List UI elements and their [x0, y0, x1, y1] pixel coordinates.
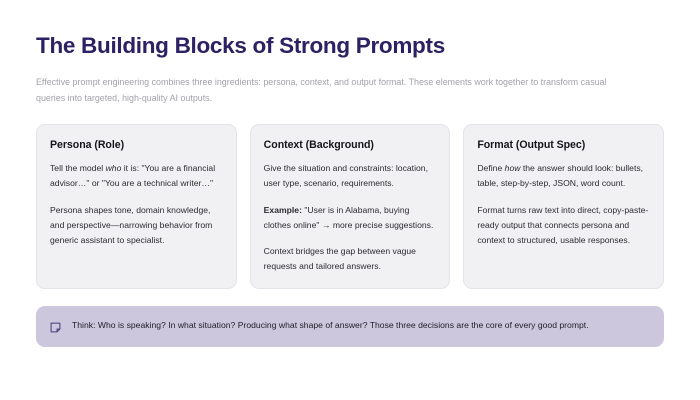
card-paragraph: Example: "User is in Alabama, buying clo… — [264, 203, 437, 234]
card-title: Format (Output Spec) — [477, 139, 650, 151]
text-run: Context bridges the gap between vague re… — [264, 246, 416, 271]
emphasis-text: how — [505, 163, 521, 173]
text-run: Persona shapes tone, domain knowledge, a… — [50, 205, 212, 246]
strong-text: Example: — [264, 205, 302, 215]
text-run: Format turns raw text into direct, copy-… — [477, 205, 648, 246]
card-paragraph: Context bridges the gap between vague re… — [264, 244, 437, 275]
text-run: Tell the model — [50, 163, 106, 173]
sticky-note-icon — [50, 320, 61, 331]
text-run: Give the situation and constraints: loca… — [264, 163, 428, 188]
card-paragraph: Format turns raw text into direct, copy-… — [477, 203, 650, 249]
card-body: Tell the model who it is: "You are a fin… — [50, 161, 223, 248]
card-body: Give the situation and constraints: loca… — [264, 161, 437, 275]
card-paragraph: Give the situation and constraints: loca… — [264, 161, 437, 192]
text-run: Define — [477, 163, 504, 173]
callout-text: Think: Who is speaking? In what situatio… — [72, 318, 589, 334]
page-title: The Building Blocks of Strong Prompts — [36, 30, 664, 59]
card-title: Context (Background) — [264, 139, 437, 151]
card-title: Persona (Role) — [50, 139, 223, 151]
card-format: Format (Output Spec) Define how the answ… — [463, 124, 664, 289]
card-context: Context (Background) Give the situation … — [250, 124, 451, 289]
emphasis-text: who — [106, 163, 122, 173]
card-paragraph: Define how the answer should look: bulle… — [477, 161, 650, 192]
card-persona: Persona (Role) Tell the model who it is:… — [36, 124, 237, 289]
card-paragraph: Persona shapes tone, domain knowledge, a… — [50, 203, 223, 249]
card-body: Define how the answer should look: bulle… — [477, 161, 650, 248]
slide-root: The Building Blocks of Strong Prompts Ef… — [0, 0, 700, 400]
page-subtitle: Effective prompt engineering combines th… — [36, 59, 636, 107]
card-paragraph: Tell the model who it is: "You are a fin… — [50, 161, 223, 192]
callout-banner: Think: Who is speaking? In what situatio… — [36, 306, 664, 347]
card-grid: Persona (Role) Tell the model who it is:… — [36, 124, 664, 289]
